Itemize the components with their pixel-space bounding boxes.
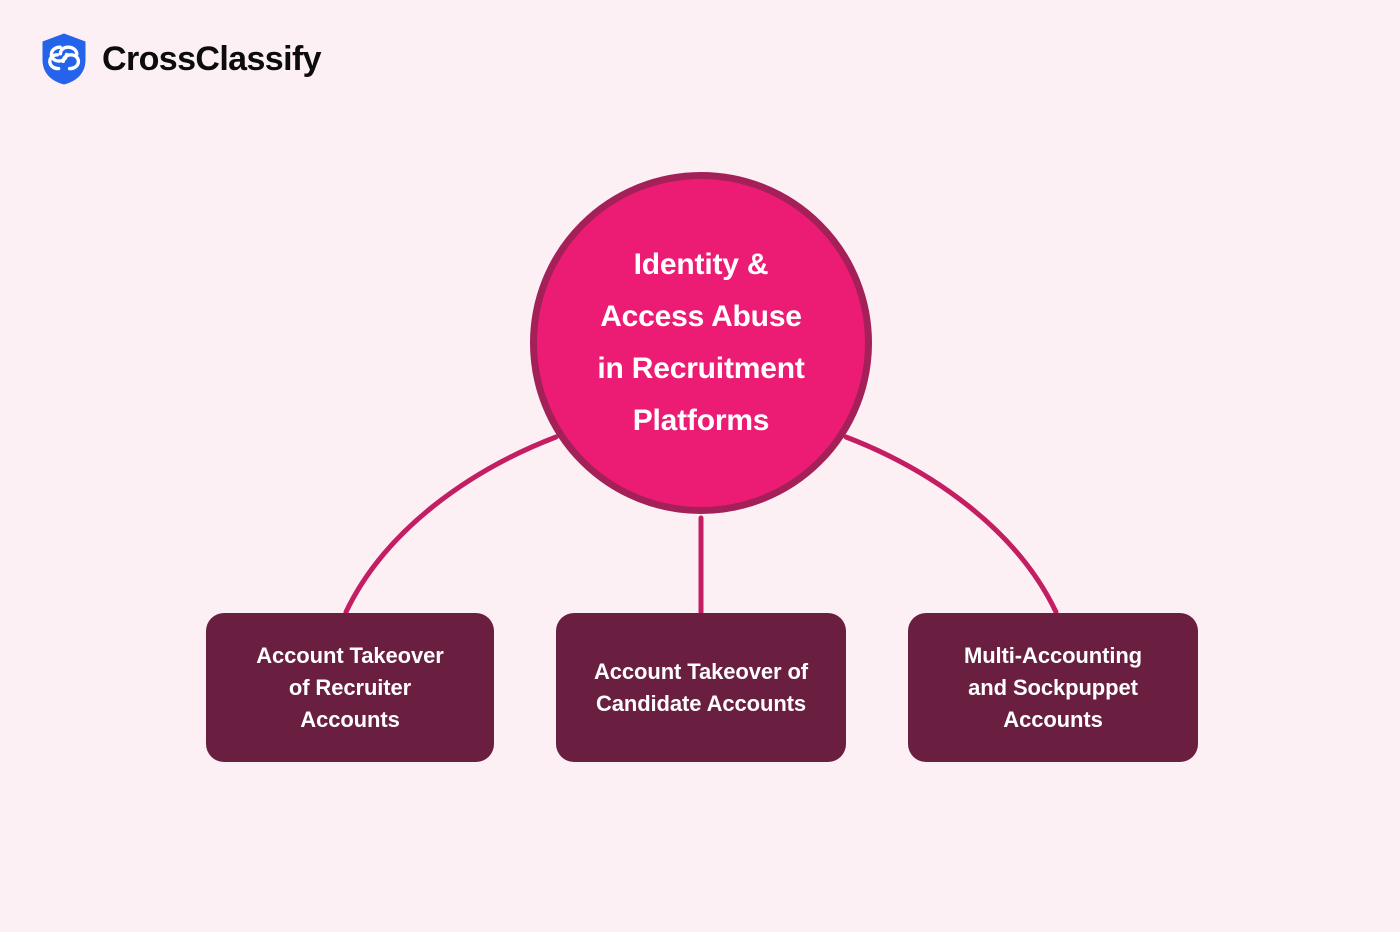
connector-left <box>346 437 556 612</box>
center-node[interactable]: Identity & Access Abuse in Recruitment P… <box>530 172 872 514</box>
node-label: Account Takeover of Recruiter Accounts <box>256 640 444 736</box>
diagram-canvas: Identity & Access Abuse in Recruitment P… <box>0 0 1400 932</box>
node-label: Multi-Accounting and Sockpuppet Accounts <box>964 640 1142 736</box>
node-account-takeover-candidate[interactable]: Account Takeover of Candidate Accounts <box>556 613 846 762</box>
connector-right <box>846 437 1056 612</box>
node-multi-accounting-sockpuppet[interactable]: Multi-Accounting and Sockpuppet Accounts <box>908 613 1198 762</box>
node-account-takeover-recruiter[interactable]: Account Takeover of Recruiter Accounts <box>206 613 494 762</box>
center-node-label: Identity & Access Abuse in Recruitment P… <box>556 239 846 447</box>
node-label: Account Takeover of Candidate Accounts <box>594 656 808 720</box>
